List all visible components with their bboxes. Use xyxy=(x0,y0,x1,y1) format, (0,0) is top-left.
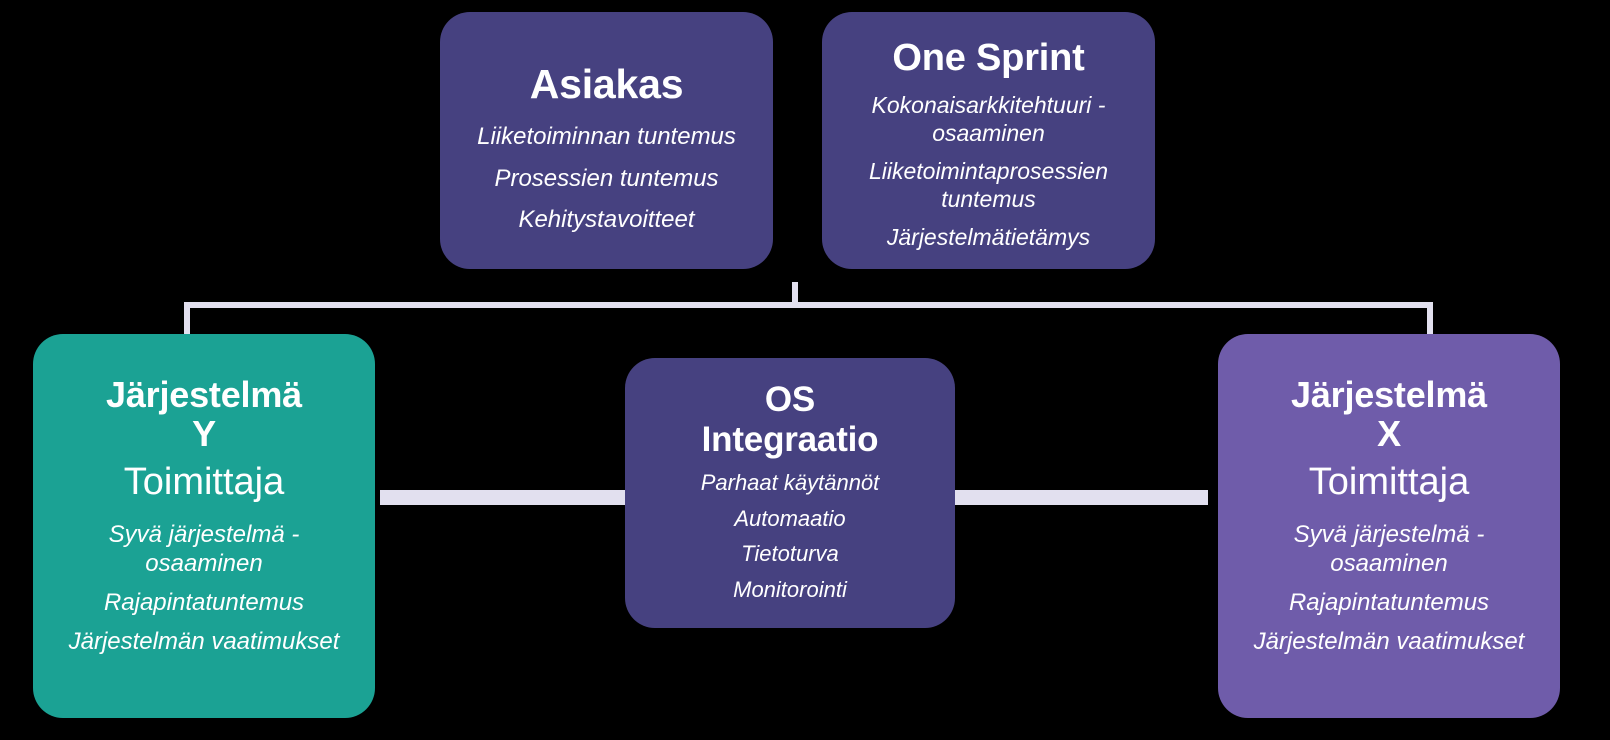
node-system-y-subtitle: Toimittaja xyxy=(124,462,285,504)
list-item: Järjestelmän vaatimukset xyxy=(69,627,340,656)
connector-bracket-center-stub xyxy=(792,282,798,304)
list-item: Liiketoimintaprosessien tuntemus xyxy=(869,157,1108,213)
node-asiakas[interactable]: Asiakas Liiketoiminnan tuntemus Prosessi… xyxy=(440,12,773,269)
node-system-x[interactable]: Järjestelmä X Toimittaja Syvä järjestelm… xyxy=(1218,334,1560,718)
connector-bracket-horizontal xyxy=(184,302,1433,308)
list-item: Rajapintatuntemus xyxy=(1254,588,1525,617)
connector-bracket-right-drop xyxy=(1427,302,1433,338)
list-item: Monitorointi xyxy=(701,577,880,604)
node-asiakas-items: Liiketoiminnan tuntemus Prosessien tunte… xyxy=(477,122,736,246)
diagram-canvas: Asiakas Liiketoiminnan tuntemus Prosessi… xyxy=(0,0,1610,740)
node-os-integration-items: Parhaat käytännöt Automaatio Tietoturva … xyxy=(701,470,880,613)
node-system-x-subtitle: Toimittaja xyxy=(1309,462,1470,504)
list-item: Syvä järjestelmä - osaaminen xyxy=(1254,520,1525,579)
node-system-x-title: Järjestelmä X xyxy=(1291,376,1487,454)
node-asiakas-title: Asiakas xyxy=(530,62,684,106)
list-item: Automaatio xyxy=(701,506,880,533)
node-system-x-items: Syvä järjestelmä - osaaminen Rajapintatu… xyxy=(1254,520,1525,667)
list-item: Kehitystavoitteet xyxy=(477,205,736,234)
connector-os-to-system-x xyxy=(950,490,1208,505)
node-os-integration[interactable]: OS Integraatio Parhaat käytännöt Automaa… xyxy=(625,358,955,628)
node-system-y[interactable]: Järjestelmä Y Toimittaja Syvä järjestelm… xyxy=(33,334,375,718)
list-item: Tietoturva xyxy=(701,541,880,568)
list-item: Rajapintatuntemus xyxy=(69,588,340,617)
node-one-sprint[interactable]: One Sprint Kokonaisarkkitehtuuri - osaam… xyxy=(822,12,1155,269)
node-one-sprint-items: Kokonaisarkkitehtuuri - osaaminen Liiket… xyxy=(869,91,1108,261)
node-one-sprint-title: One Sprint xyxy=(892,38,1084,79)
list-item: Parhaat käytännöt xyxy=(701,470,880,497)
list-item: Järjestelmätietämys xyxy=(869,223,1108,251)
node-os-integration-title: OS Integraatio xyxy=(702,380,879,460)
list-item: Kokonaisarkkitehtuuri - osaaminen xyxy=(869,91,1108,147)
node-system-y-title: Järjestelmä Y xyxy=(106,376,302,454)
list-item: Liiketoiminnan tuntemus xyxy=(477,122,736,151)
list-item: Prosessien tuntemus xyxy=(477,164,736,193)
list-item: Järjestelmän vaatimukset xyxy=(1254,627,1525,656)
connector-system-y-to-os xyxy=(380,490,632,505)
connector-bracket-left-drop xyxy=(184,302,190,338)
list-item: Syvä järjestelmä - osaaminen xyxy=(69,520,340,579)
node-system-y-items: Syvä järjestelmä - osaaminen Rajapintatu… xyxy=(69,520,340,667)
